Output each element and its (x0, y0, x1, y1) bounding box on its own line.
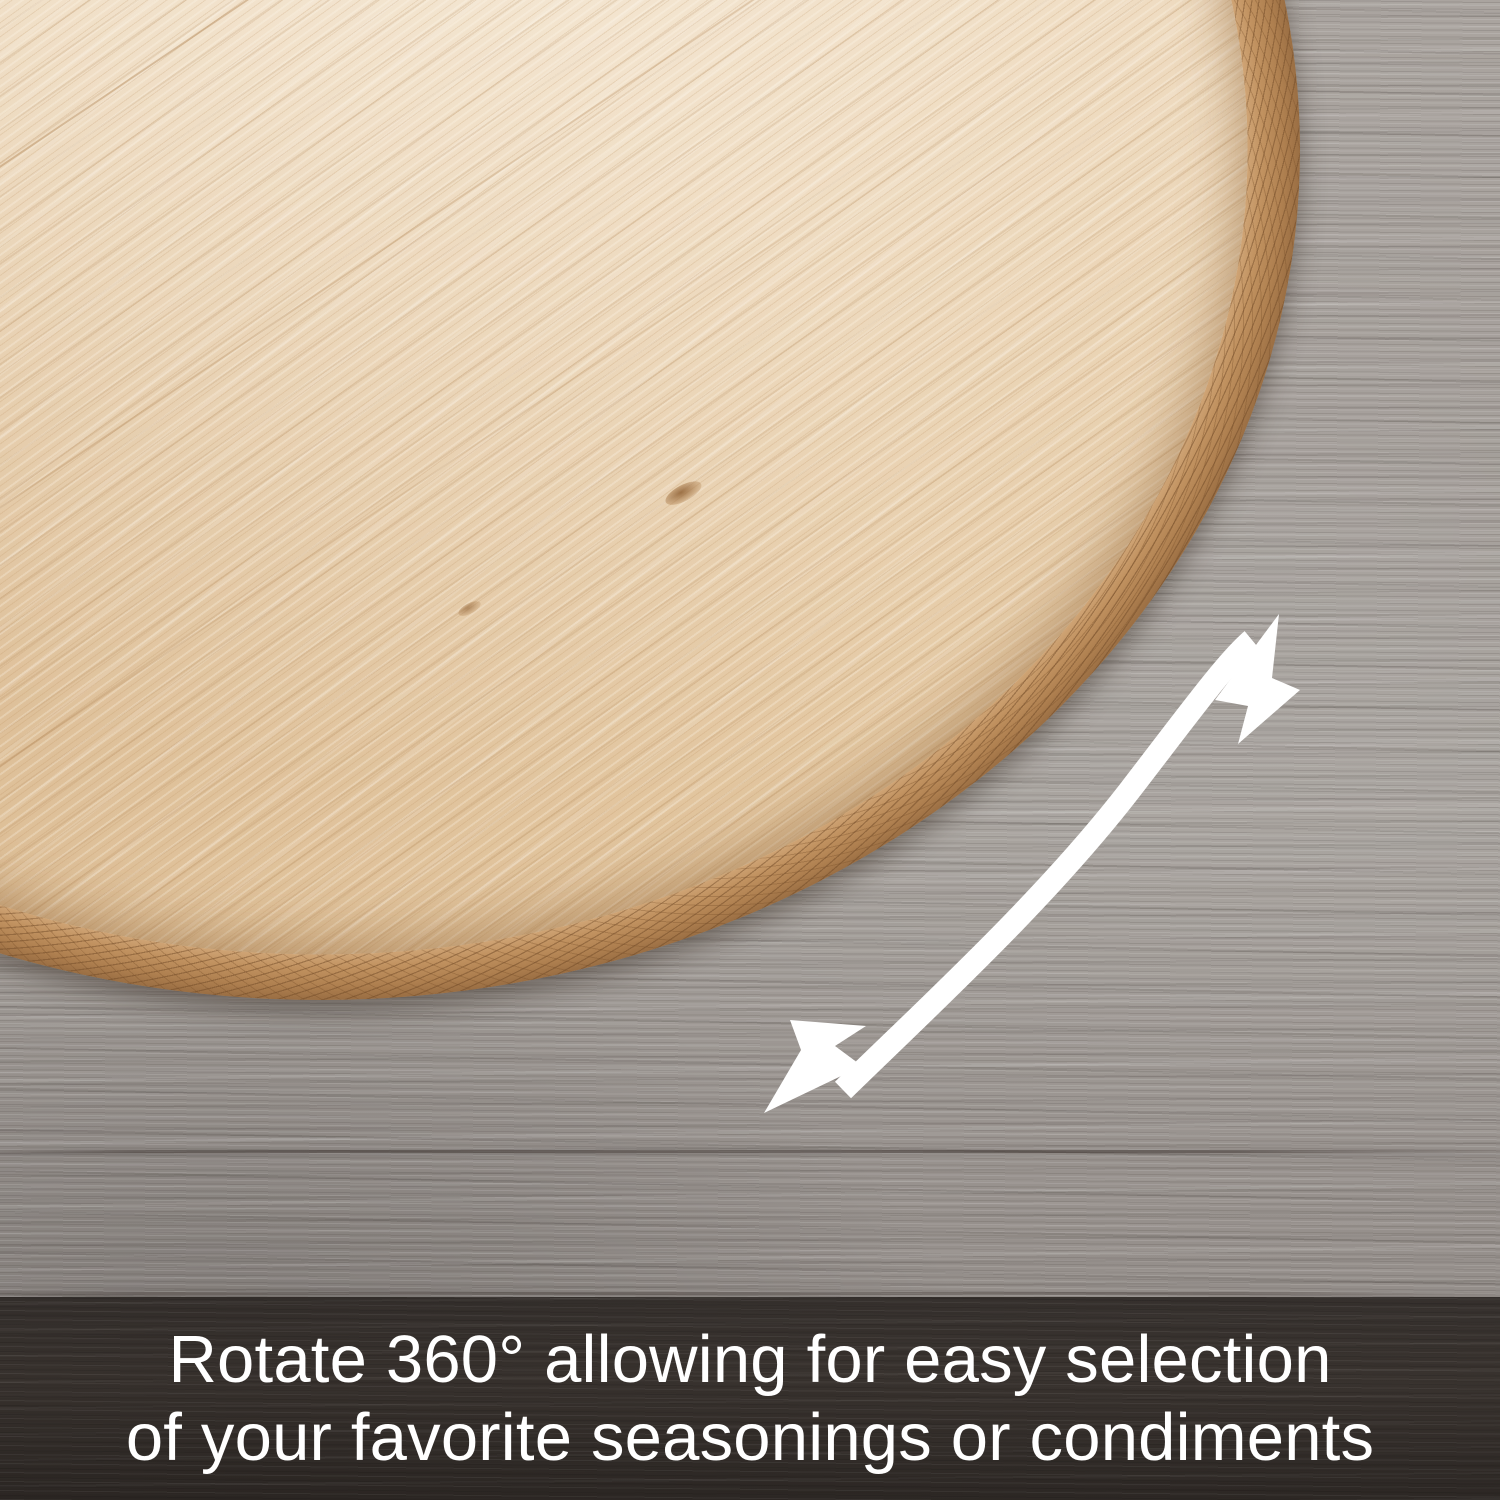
rotate-arrow-head-lower (764, 1020, 866, 1113)
rotate-double-arrow-icon (0, 0, 1500, 1500)
caption-band: Rotate 360° allowing for easy selection … (0, 1297, 1500, 1500)
caption-line-1: Rotate 360° allowing for easy selection (168, 1321, 1331, 1399)
rotate-arrow-shaft (843, 640, 1252, 1090)
product-photo-scene: ooo OME Rotate 360° allowing for easy se… (0, 0, 1500, 1500)
caption-line-2: of your favorite seasonings or condiment… (126, 1399, 1374, 1477)
